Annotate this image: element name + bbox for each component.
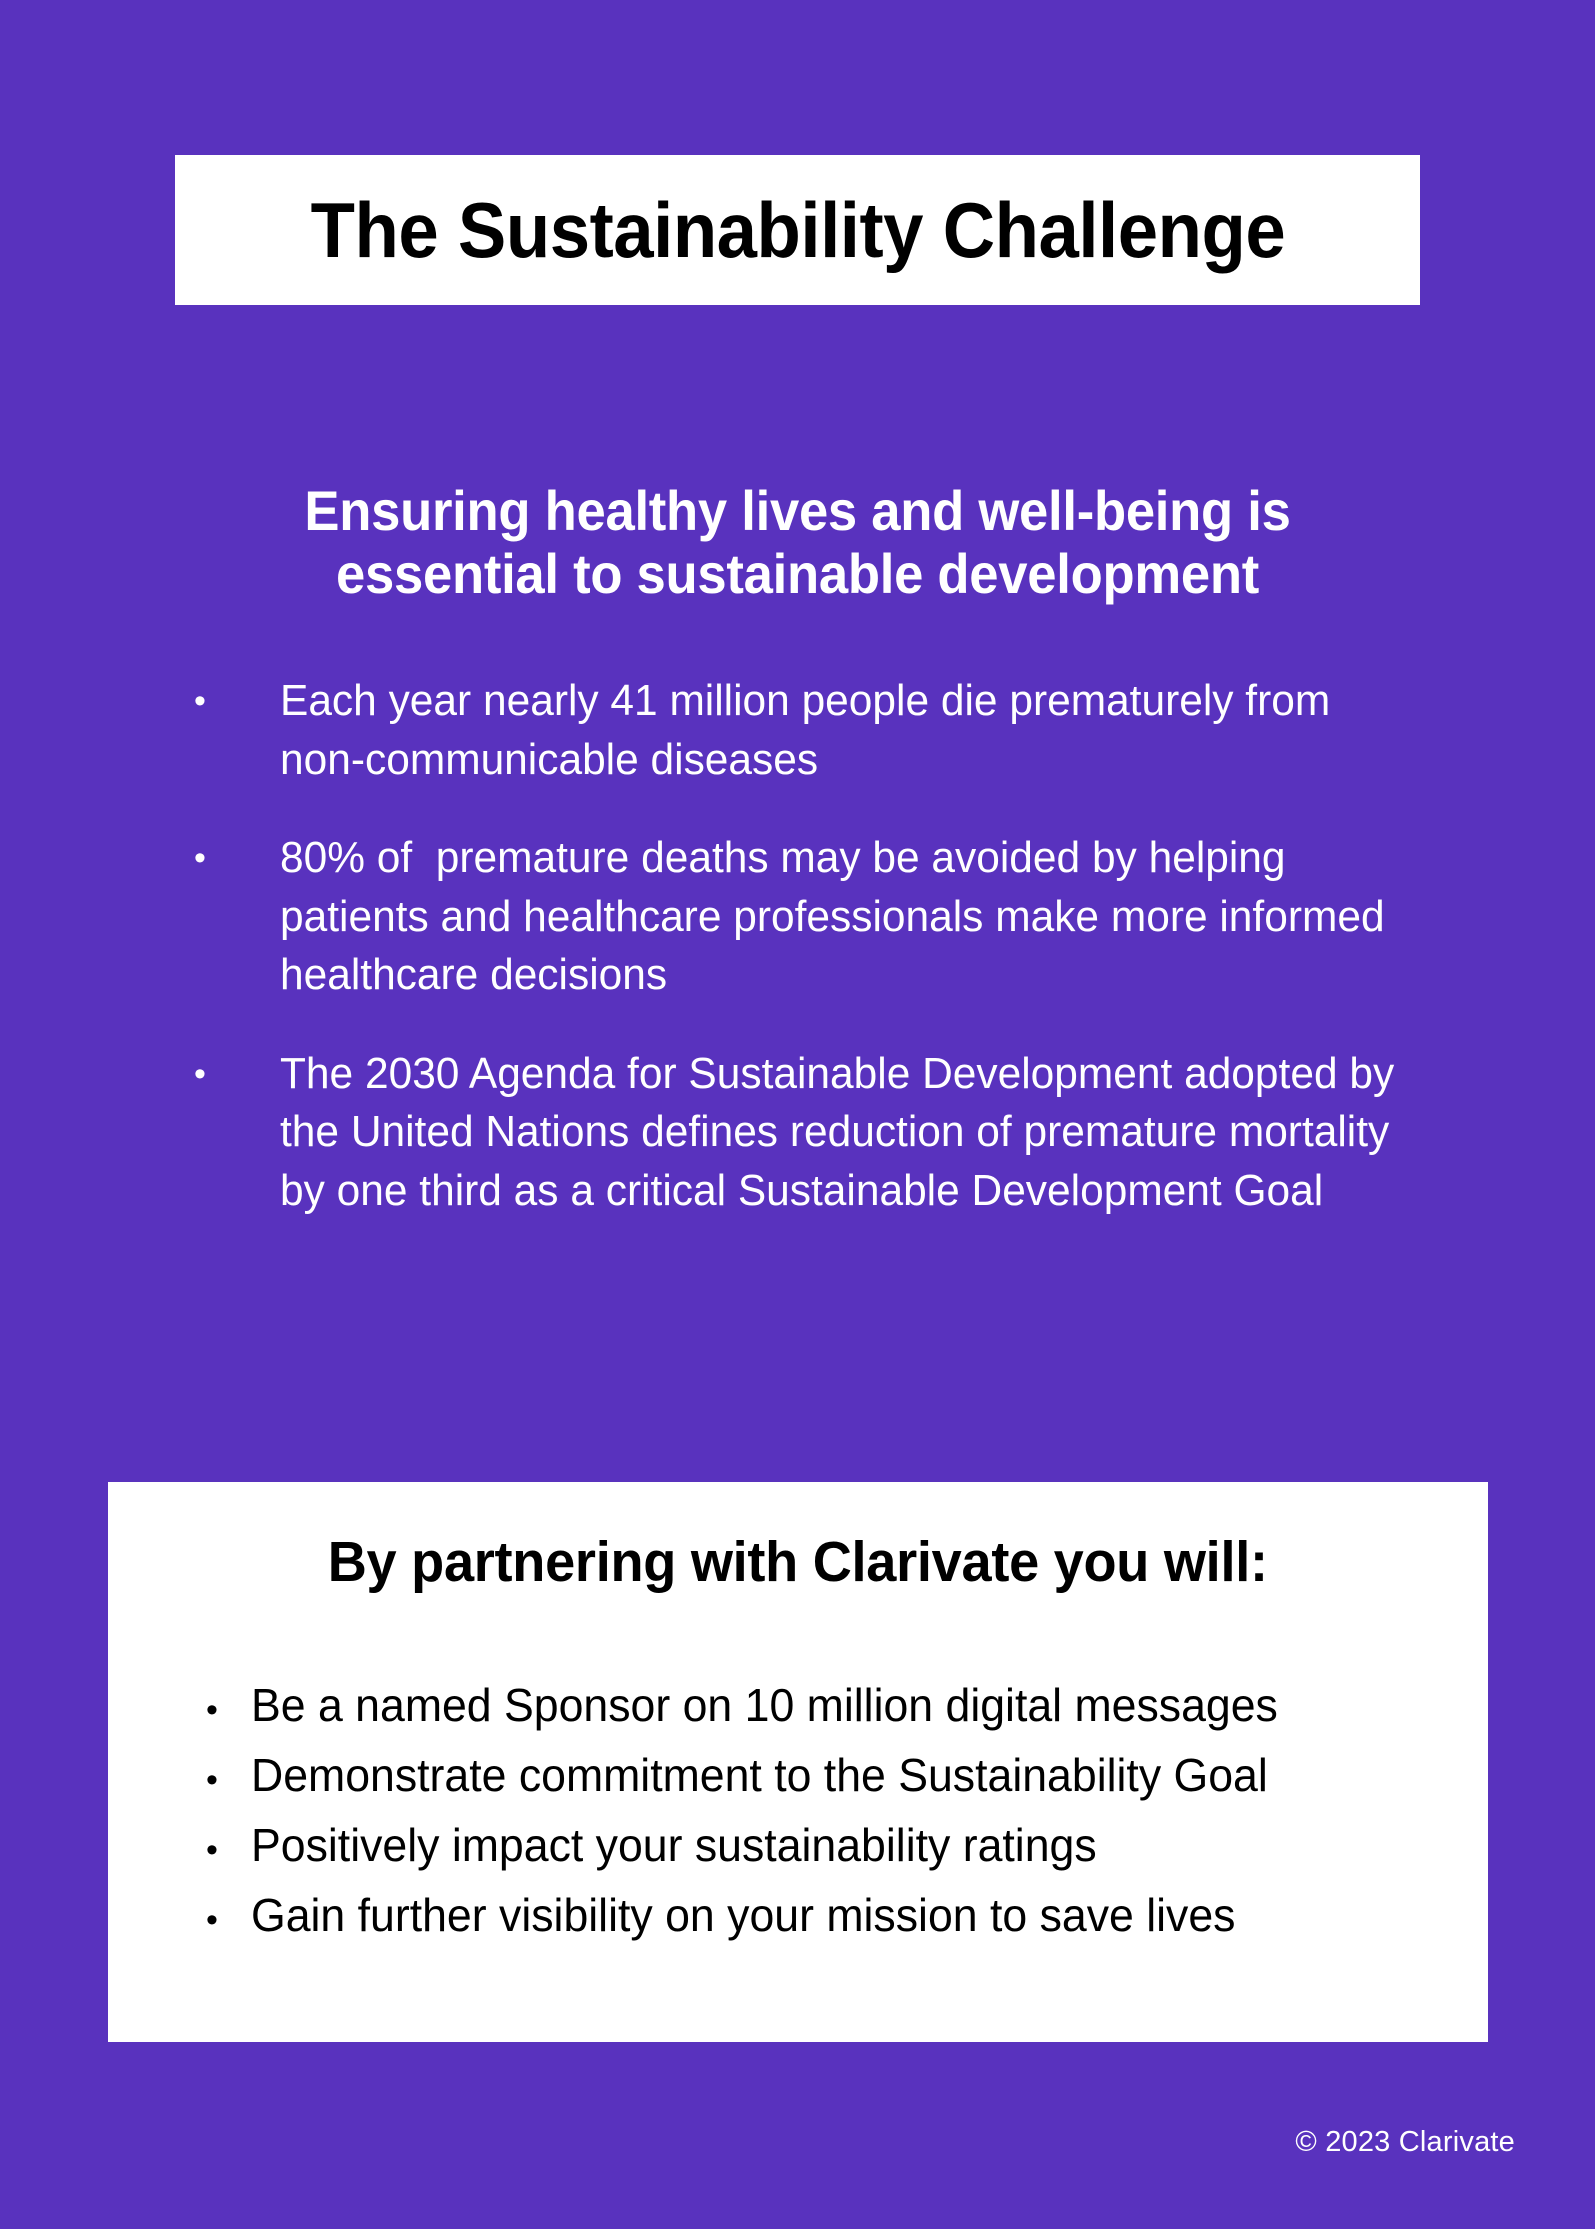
subtitle-line-2: essential to sustainable development [212,543,1382,606]
copyright-notice: © 2023 Clarivate [1295,2128,1515,2157]
list-item-text: Gain further visibility on your mission … [251,1892,1430,1938]
list-item: • Be a named Sponsor on 10 million digit… [146,1682,1466,1728]
bullet-icon: • [180,829,280,1005]
challenge-bullet-list: • Each year nearly 41 million people die… [180,672,1440,1220]
bullet-icon: • [146,1833,251,1867]
page-title: The Sustainability Challenge [310,191,1285,269]
bullet-icon: • [146,1693,251,1727]
list-item: • Gain further visibility on your missio… [146,1892,1466,1938]
partner-panel-heading: By partnering with Clarivate you will: [108,1534,1488,1591]
partner-benefit-list: • Be a named Sponsor on 10 million digit… [146,1682,1466,1938]
list-item: • Positively impact your sustainability … [146,1822,1466,1868]
bullet-icon: • [146,1903,251,1937]
list-item: • 80% of premature deaths may be avoided… [180,829,1440,1005]
list-item-text: Each year nearly 41 million people die p… [280,672,1399,789]
bullet-icon: • [146,1763,251,1797]
list-item: • Each year nearly 41 million people die… [180,672,1440,789]
slide-canvas: The Sustainability Challenge Ensuring he… [0,0,1595,2229]
list-item-text: The 2030 Agenda for Sustainable Developm… [280,1045,1399,1221]
bullet-icon: • [180,672,280,789]
partner-panel-heading-text: By partnering with Clarivate you will: [328,1534,1268,1591]
list-item-text: Positively impact your sustainability ra… [251,1822,1430,1868]
list-item: • The 2030 Agenda for Sustainable Develo… [180,1045,1440,1221]
list-item-text: Be a named Sponsor on 10 million digital… [251,1682,1430,1728]
subtitle-line-1: Ensuring healthy lives and well-being is [212,480,1382,543]
list-item: • Demonstrate commitment to the Sustaina… [146,1752,1466,1798]
title-banner: The Sustainability Challenge [175,155,1420,305]
list-item-text: Demonstrate commitment to the Sustainabi… [251,1752,1430,1798]
subtitle: Ensuring healthy lives and well-being is… [175,480,1420,605]
bullet-icon: • [180,1045,280,1221]
list-item-text: 80% of premature deaths may be avoided b… [280,829,1399,1005]
partner-panel: By partnering with Clarivate you will: •… [108,1482,1488,2042]
